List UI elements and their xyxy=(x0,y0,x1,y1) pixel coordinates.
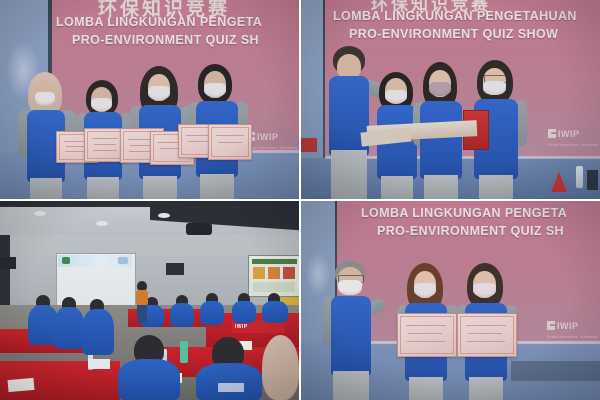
iwip-logo-name: IWIP xyxy=(557,321,579,331)
photo-collage: 环保知识竞赛 LOMBA LINGKUNGAN PENGETA PRO-ENVI… xyxy=(0,0,600,400)
iwip-logo-subtitle: Pulau Halmahera, Indonesia xyxy=(547,335,598,339)
document xyxy=(8,378,35,392)
slide-line-2: PRO-ENVIRONMENT QUIZ SH xyxy=(72,33,259,47)
slide-line-1: LOMBA LINGKUNGAN PENGETA xyxy=(361,206,567,220)
iwip-shirt-logo xyxy=(218,383,244,392)
iwip-logo: IWIP Pulau Halmahera, Indonesia xyxy=(547,316,598,339)
sanitizer-bottle xyxy=(180,341,188,363)
collage-panel-top-left: 环保知识竞赛 LOMBA LINGKUNGAN PENGETA PRO-ENVI… xyxy=(0,0,299,199)
iwip-logo-mark xyxy=(547,321,555,330)
presenter-figure xyxy=(134,281,150,323)
collage-panel-top-right: 环保知识竞赛 LOMBA LINGKUNGAN PENGETAHUAN PRO-… xyxy=(301,0,600,199)
slide-line-1: LOMBA LINGKUNGAN PENGETAHUAN xyxy=(333,9,577,23)
collage-panel-bottom-right: LOMBA LINGKUNGAN PENGETA PRO-ENVIRONMENT… xyxy=(301,201,600,400)
wall-poster xyxy=(248,255,299,297)
certificate xyxy=(397,313,457,357)
certificate xyxy=(208,124,252,160)
certificate xyxy=(457,313,517,357)
water-bottle xyxy=(576,166,583,188)
slide-line-2: PRO-ENVIRONMENT QUIZ SHOW xyxy=(349,27,558,41)
wall-speaker xyxy=(0,257,16,269)
person-figure xyxy=(323,261,385,400)
wall-speaker xyxy=(166,263,184,275)
iwip-logo-mark xyxy=(548,129,556,138)
slide-line-2: PRO-ENVIRONMENT QUIZ SH xyxy=(377,224,564,238)
collage-panel-bottom-left: IWIP xyxy=(0,201,299,400)
tissue-box xyxy=(88,359,110,369)
iwip-logo-name: IWIP xyxy=(558,129,580,139)
iwip-logo: IWIP Pulau Halmahera, Indonesia xyxy=(548,124,599,147)
slide-line-1: LOMBA LINGKUNGAN PENGETA xyxy=(56,15,262,29)
iwip-logo-name: IWIP xyxy=(257,132,279,142)
iwip-logo: IWIP Pulau Halmahera, Indonesia xyxy=(247,127,298,150)
iwip-logo-subtitle: Pulau Halmahera, Indonesia xyxy=(548,143,599,147)
table-banner-label: IWIP xyxy=(235,324,247,330)
